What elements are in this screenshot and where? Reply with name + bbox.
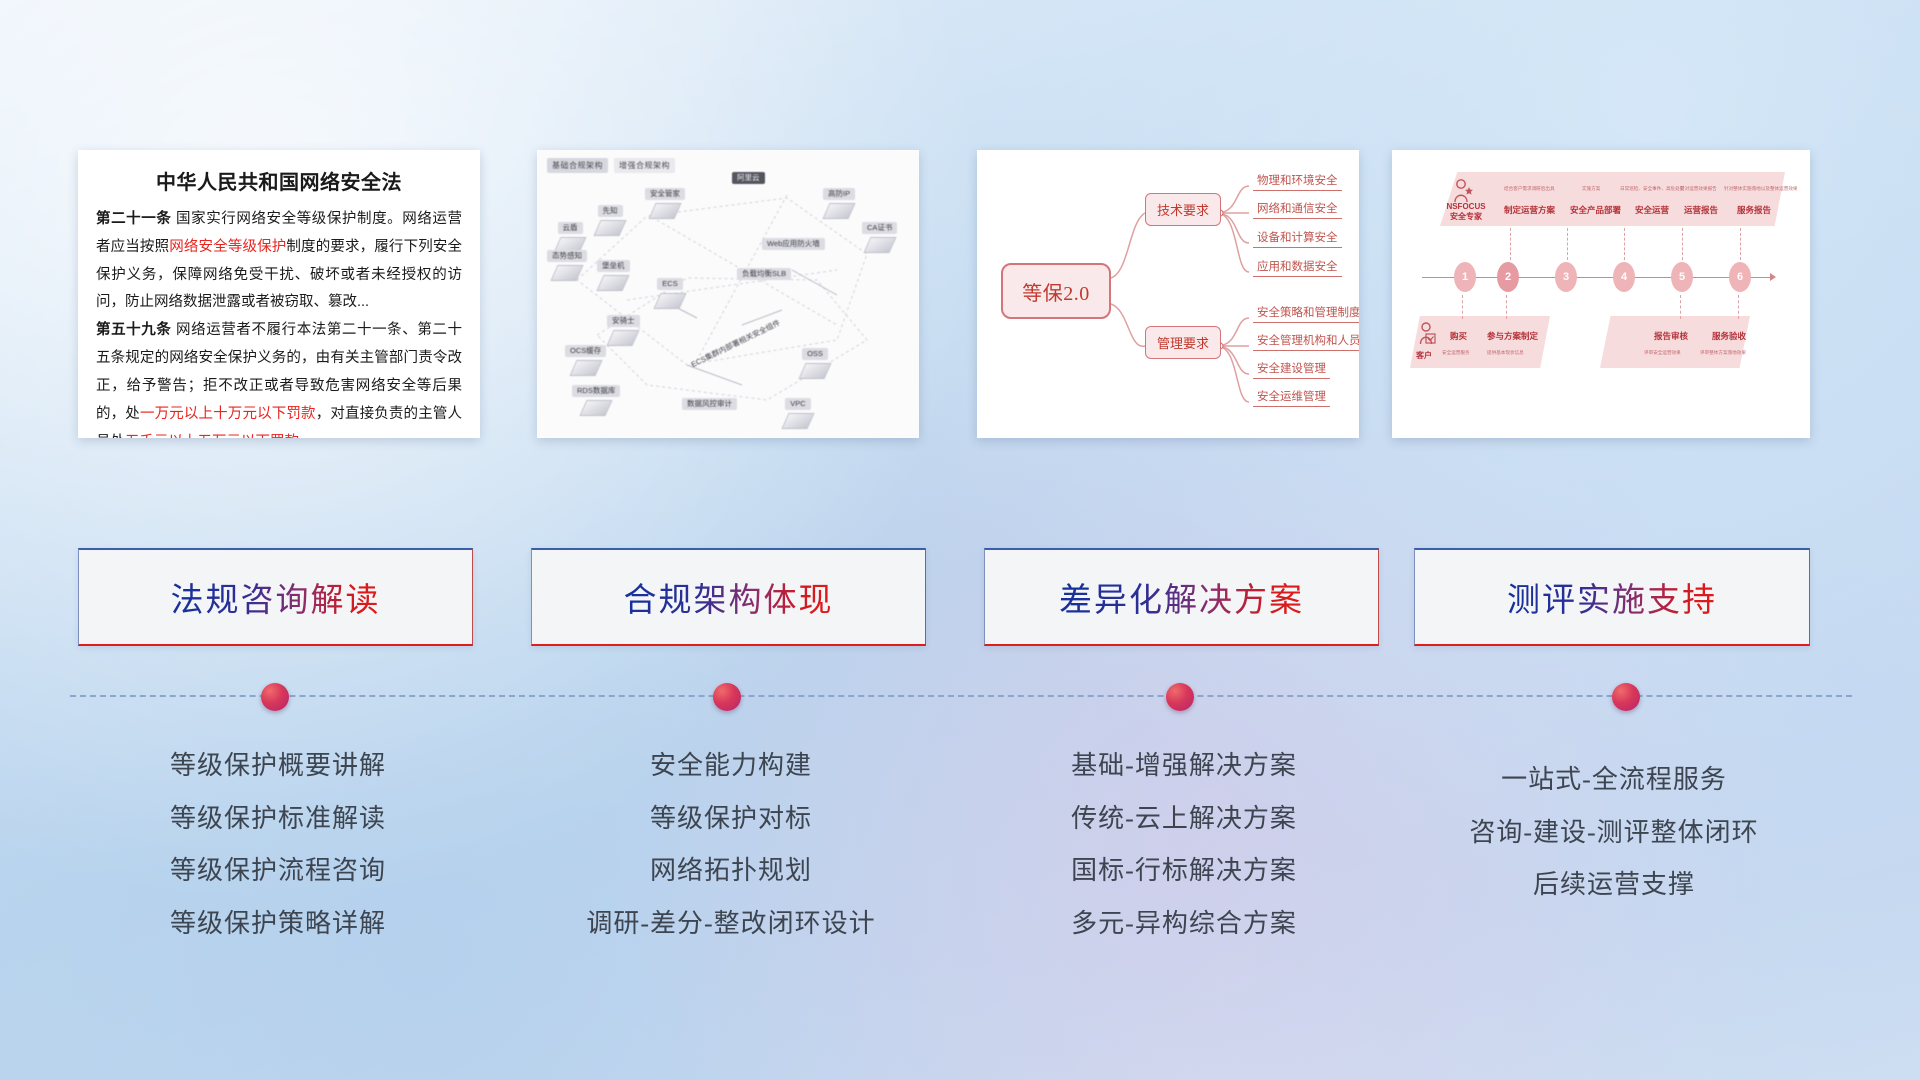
- card-dengbao-mindmap: 等保2.0 技术要求 物理和环境安全 网络和通信安全 设备和计算安全 应用和数据…: [977, 150, 1359, 438]
- list-item: 基础-增强解决方案: [984, 740, 1384, 793]
- timeline-step5-sub: 针对运营效果报告: [1680, 186, 1717, 192]
- timeline-cstep2-main: 参与方案制定: [1487, 330, 1538, 342]
- node-anqishi: 安骑士: [607, 315, 640, 346]
- timeline-customer-band-right: [1600, 316, 1750, 368]
- list-item: 等级保护概要讲解: [78, 740, 478, 793]
- law-article-59-label: 第五十九条: [96, 322, 171, 338]
- timeline-connector-5: [1682, 228, 1683, 260]
- node-oss: OSS: [802, 348, 828, 379]
- node-ecs: ECS: [657, 278, 683, 309]
- list-item: 一站式-全流程服务: [1414, 754, 1814, 807]
- timeline-step5-main: 运营报告: [1684, 204, 1718, 216]
- law-article-21-label: 第二十一条: [96, 211, 171, 227]
- milestone-axis: [70, 695, 1852, 697]
- timeline-step2-main: 制定运营方案: [1504, 204, 1555, 216]
- node-ocs-cache: OCS缓存: [565, 345, 606, 376]
- node-waf: Web应用防火墙: [762, 238, 825, 250]
- law-paragraph-59: 第五十九条 网络运营者不履行本法第二十一条、第二十五条规定的网络安全保护义务的，…: [96, 317, 462, 438]
- timeline-connector-6: [1740, 228, 1741, 260]
- section-title-2: 合规架构体现: [624, 573, 834, 621]
- timeline-step-dot-6: 6: [1729, 262, 1751, 292]
- node-ca-cert: CA证书: [862, 222, 897, 253]
- list-item: 等级保护策略详解: [78, 898, 478, 951]
- law-title: 中华人民共和国网络安全法: [96, 166, 462, 195]
- list-item: 传统-云上解决方案: [984, 793, 1384, 846]
- timeline-step-dot-4: 4: [1613, 262, 1635, 292]
- law-text-block: 中华人民共和国网络安全法 第二十一条 国家实行网络安全等级保护制度。网络运营者应…: [78, 150, 480, 438]
- timeline-connector-c2: [1506, 295, 1507, 319]
- timeline-expert-band: [1440, 172, 1785, 226]
- customer-person-icon: [1418, 322, 1438, 348]
- card-cybersecurity-law: 中华人民共和国网络安全法 第二十一条 国家实行网络安全等级保护制度。网络运营者应…: [78, 150, 480, 438]
- timeline-connector-c4: [1738, 295, 1739, 319]
- timeline-step-dot-3: 3: [1555, 262, 1577, 292]
- card-nsfocus-service-timeline: NSFOCUS安全专家 结合客户需求调研后出具 制定运营方案 实施方案 安全产品…: [1392, 150, 1810, 438]
- timeline-cstep3-sub: 评审安全运营效果: [1644, 350, 1681, 356]
- timeline-step6-main: 服务报告: [1737, 204, 1771, 216]
- timeline-step4-sub: 日常巡检、安全事件、高危处置: [1620, 186, 1684, 192]
- list-item: 网络拓扑规划: [531, 845, 931, 898]
- section-title-4: 测评实施支持: [1507, 573, 1717, 621]
- section-title-row: 法规咨询解读 合规架构体现 差异化解决方案 测评实施支持: [0, 548, 1920, 652]
- section-items-4: 一站式-全流程服务 咨询-建设-测评整体闭环 后续运营支撑: [1414, 740, 1814, 912]
- timeline-connector-c1: [1462, 295, 1463, 319]
- service-timeline: NSFOCUS安全专家 结合客户需求调研后出具 制定运营方案 实施方案 安全产品…: [1392, 150, 1810, 438]
- node-data-risk-audit: 数据风控审计: [682, 398, 737, 410]
- timeline-connector-3: [1567, 228, 1568, 260]
- mindmap: 等保2.0 技术要求 物理和环境安全 网络和通信安全 设备和计算安全 应用和数据…: [977, 150, 1359, 438]
- law-article-59-highlight-2: 五千元以上五万元以下罚款。: [125, 434, 314, 438]
- mindmap-leaf-app-data: 应用和数据安全: [1253, 258, 1342, 277]
- expert-person-icon: [1452, 178, 1474, 204]
- timeline-expert-role: NSFOCUS安全专家: [1442, 202, 1490, 222]
- timeline-connector-c3: [1680, 295, 1681, 319]
- node-right-top: 高防IP: [823, 188, 855, 219]
- section-title-box-3[interactable]: 差异化解决方案: [984, 548, 1379, 646]
- timeline-cstep1-sub: 安全运营服务: [1442, 350, 1470, 356]
- node-situation-awareness: 态势感知: [547, 250, 587, 281]
- timeline-step-dot-1: 1: [1454, 262, 1476, 292]
- section-title-3: 差异化解决方案: [1059, 573, 1304, 621]
- section-title-1: 法规咨询解读: [171, 573, 381, 621]
- list-item: 咨询-建设-测评整体闭环: [1414, 807, 1814, 860]
- node-security-butler: 安全管家: [645, 188, 685, 219]
- law-article-59-highlight-1: 一万元以上十万元以下罚款: [140, 406, 316, 422]
- poster-canvas: 中华人民共和国网络安全法 第二十一条 国家实行网络安全等级保护制度。网络运营者应…: [0, 0, 1920, 1080]
- timeline-customer-role: 客户: [1416, 350, 1432, 361]
- mindmap-leaf-ops-mgmt: 安全运维管理: [1253, 388, 1330, 407]
- timeline-step4-main: 安全运营: [1635, 204, 1669, 216]
- list-item: 国标-行标解决方案: [984, 845, 1384, 898]
- mindmap-leaf-policy-system: 安全策略和管理制度: [1253, 304, 1359, 323]
- list-item: 等级保护流程咨询: [78, 845, 478, 898]
- timeline-step-dot-5: 5: [1671, 262, 1693, 292]
- section-items-1: 等级保护概要讲解 等级保护标准解读 等级保护流程咨询 等级保护策略详解: [78, 740, 478, 950]
- list-item: 后续运营支撑: [1414, 859, 1814, 912]
- mindmap-leaf-network-comm: 网络和通信安全: [1253, 200, 1342, 219]
- timeline-cstep3-main: 报告审核: [1654, 330, 1688, 342]
- timeline-cstep4-main: 服务验收: [1712, 330, 1746, 342]
- timeline-connector-2: [1510, 228, 1511, 260]
- mindmap-leaf-construction-mgmt: 安全建设管理: [1253, 360, 1330, 379]
- node-vpc: VPC: [785, 398, 811, 429]
- timeline-cstep4-sub: 评审整体方案落地效果: [1700, 350, 1746, 356]
- node-slb: 负载均衡SLB: [737, 268, 791, 280]
- timeline-axis-arrow: [1770, 273, 1776, 281]
- architecture-diagram: 基础合规架构 增强合规架构 云盾 先知: [537, 150, 919, 438]
- section-title-box-1[interactable]: 法规咨询解读: [78, 548, 473, 646]
- mindmap-branch-management: 管理要求: [1145, 326, 1221, 359]
- law-paragraph-21: 第二十一条 国家实行网络安全等级保护制度。网络运营者应当按照网络安全等级保护制度…: [96, 206, 462, 317]
- milestone-dot-2[interactable]: [713, 683, 741, 711]
- section-detail-row: 等级保护概要讲解 等级保护标准解读 等级保护流程咨询 等级保护策略详解 安全能力…: [0, 740, 1920, 960]
- law-article-21-highlight: 网络安全等级保护: [169, 239, 286, 255]
- timeline-step6-sub: 针对整体实施落地以及整体运营效果: [1724, 186, 1798, 192]
- list-item: 安全能力构建: [531, 740, 931, 793]
- timeline-step3-main: 安全产品部署: [1570, 204, 1621, 216]
- node-xianzhi: 先知: [597, 205, 623, 236]
- milestone-dot-4[interactable]: [1612, 683, 1640, 711]
- section-items-3: 基础-增强解决方案 传统-云上解决方案 国标-行标解决方案 多元-异构综合方案: [984, 740, 1384, 950]
- mindmap-leaf-physical-env: 物理和环境安全: [1253, 172, 1342, 191]
- timeline-step2-sub: 结合客户需求调研后出具: [1504, 186, 1555, 192]
- section-items-2: 安全能力构建 等级保护对标 网络拓扑规划 调研-差分-整改闭环设计: [531, 740, 931, 950]
- timeline-connector-4: [1624, 228, 1625, 260]
- list-item: 多元-异构综合方案: [984, 898, 1384, 951]
- image-card-row: 中华人民共和国网络安全法 第二十一条 国家实行网络安全等级保护制度。网络运营者应…: [0, 150, 1920, 440]
- node-rds: RDS数据库: [572, 385, 620, 416]
- timeline-step-dot-2: 2: [1497, 262, 1519, 292]
- timeline-cstep2-sub: 提供基本现状信息: [1487, 350, 1524, 356]
- list-item: 调研-差分-整改闭环设计: [531, 898, 931, 951]
- milestone-dot-1[interactable]: [261, 683, 289, 711]
- mindmap-leaf-device-compute: 设备和计算安全: [1253, 229, 1342, 248]
- node-yun-dun: 云盾: [557, 222, 583, 253]
- section-title-box-4[interactable]: 测评实施支持: [1414, 548, 1810, 646]
- list-item: 等级保护标准解读: [78, 793, 478, 846]
- mindmap-root-node: 等保2.0: [1001, 263, 1111, 319]
- timeline-step3-sub: 实施方案: [1582, 186, 1600, 192]
- section-title-box-2[interactable]: 合规架构体现: [531, 548, 926, 646]
- mindmap-branch-technical: 技术要求: [1145, 193, 1221, 226]
- node-bastion-host: 堡垒机: [597, 260, 630, 291]
- milestone-dot-3[interactable]: [1166, 683, 1194, 711]
- timeline-cstep1-main: 购买: [1450, 330, 1467, 342]
- node-dark-label: 阿里云: [732, 172, 765, 184]
- mindmap-leaf-org-personnel: 安全管理机构和人员: [1253, 332, 1359, 351]
- list-item: 等级保护对标: [531, 793, 931, 846]
- card-compliance-architecture: 基础合规架构 增强合规架构 云盾 先知: [537, 150, 919, 438]
